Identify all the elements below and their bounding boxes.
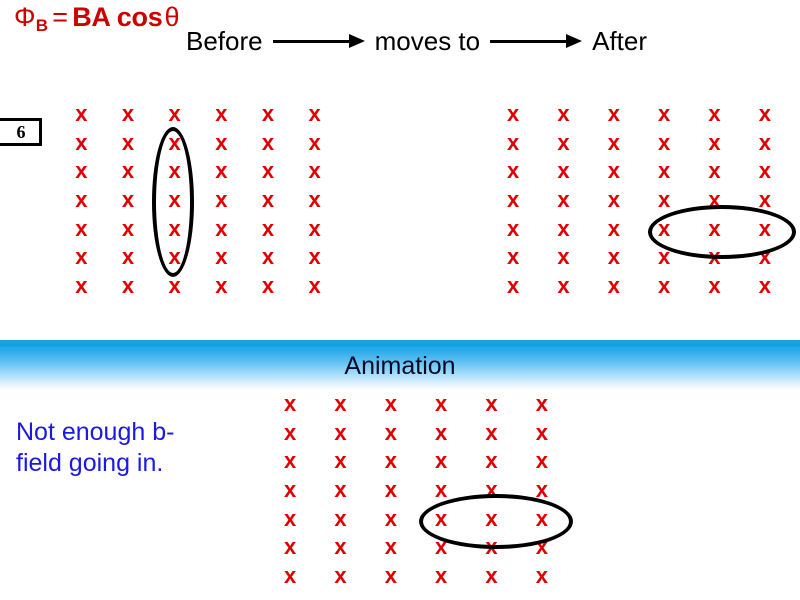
field-x-mark: x — [265, 533, 315, 562]
field-x-mark: x — [198, 100, 245, 129]
field-x-mark: x — [105, 100, 152, 129]
field-grid-before: xxxxxxxxxxxxxxxxxxxxxxxxxxxxxxxxxxxxxxxx… — [58, 100, 338, 300]
field-x-mark: x — [58, 157, 105, 186]
phi-symbol: Φ — [14, 2, 36, 32]
field-x-mark: x — [416, 419, 466, 448]
field-x-mark: x — [245, 100, 292, 129]
field-x-mark: x — [517, 561, 567, 590]
field-x-mark: x — [58, 129, 105, 158]
field-x-mark: x — [488, 129, 538, 158]
field-x-mark: x — [740, 100, 790, 129]
field-x-mark: x — [315, 476, 365, 505]
field-x-mark: x — [639, 157, 689, 186]
field-x-mark: x — [538, 271, 588, 300]
field-x-mark: x — [315, 504, 365, 533]
formula-expression: BA cos — [72, 2, 162, 32]
field-x-mark: x — [245, 186, 292, 215]
field-x-mark: x — [315, 390, 365, 419]
field-x-mark: x — [740, 129, 790, 158]
field-x-mark: x — [291, 157, 338, 186]
field-x-mark: x — [740, 271, 790, 300]
right-arrow-icon — [273, 34, 365, 48]
field-x-mark: x — [366, 390, 416, 419]
field-x-mark: x — [466, 561, 516, 590]
field-x-mark: x — [265, 476, 315, 505]
field-x-mark: x — [488, 157, 538, 186]
field-x-mark: x — [639, 129, 689, 158]
field-x-mark: x — [639, 271, 689, 300]
field-x-mark: x — [105, 271, 152, 300]
field-x-mark: x — [245, 214, 292, 243]
field-x-mark: x — [689, 100, 739, 129]
field-x-mark: x — [538, 129, 588, 158]
field-x-mark: x — [265, 419, 315, 448]
transition-header: Before moves to After — [186, 24, 647, 58]
arrow-shaft — [273, 40, 351, 43]
animation-banner-title: Animation — [0, 352, 800, 381]
highlight-ellipse-after — [648, 205, 796, 259]
field-x-mark: x — [466, 390, 516, 419]
field-x-mark: x — [198, 186, 245, 215]
arrow-shaft — [490, 40, 568, 43]
field-x-mark: x — [689, 271, 739, 300]
highlight-ellipse-animation — [419, 494, 573, 549]
field-x-mark: x — [198, 157, 245, 186]
field-x-mark: x — [58, 186, 105, 215]
field-x-mark: x — [245, 271, 292, 300]
field-x-mark: x — [639, 100, 689, 129]
slide-number-label: 6 — [13, 122, 26, 143]
field-x-mark: x — [466, 419, 516, 448]
field-x-mark: x — [105, 129, 152, 158]
phi-subscript: B — [36, 16, 48, 35]
right-arrow-icon-2 — [490, 34, 582, 48]
field-x-mark: x — [740, 157, 790, 186]
field-x-mark: x — [366, 476, 416, 505]
field-x-mark: x — [291, 129, 338, 158]
field-x-mark: x — [291, 271, 338, 300]
field-x-mark: x — [488, 186, 538, 215]
field-x-mark: x — [105, 186, 152, 215]
field-x-mark: x — [538, 214, 588, 243]
field-grid-animation: xxxxxxxxxxxxxxxxxxxxxxxxxxxxxxxxxxxxxxxx… — [265, 390, 567, 590]
field-x-mark: x — [488, 100, 538, 129]
magnetic-flux-formula: ΦB=BA cosθ — [14, 2, 180, 36]
field-x-mark: x — [58, 271, 105, 300]
field-x-mark: x — [58, 214, 105, 243]
caption-text: Not enough b-field going in. — [16, 417, 206, 478]
field-x-mark: x — [589, 100, 639, 129]
field-x-mark: x — [538, 243, 588, 272]
field-x-mark: x — [245, 129, 292, 158]
field-x-mark: x — [198, 129, 245, 158]
field-x-mark: x — [58, 100, 105, 129]
field-x-mark: x — [416, 447, 466, 476]
field-x-mark: x — [416, 390, 466, 419]
theta-symbol: θ — [162, 2, 179, 32]
field-x-mark: x — [366, 419, 416, 448]
arrow-head — [349, 34, 365, 48]
field-x-mark: x — [488, 214, 538, 243]
field-x-mark: x — [291, 214, 338, 243]
field-x-mark: x — [58, 243, 105, 272]
field-x-mark: x — [689, 157, 739, 186]
field-x-mark: x — [151, 100, 198, 129]
field-x-mark: x — [105, 157, 152, 186]
field-x-mark: x — [291, 243, 338, 272]
after-label: After — [592, 24, 647, 58]
slide-number-box: 6 — [0, 118, 42, 146]
field-x-mark: x — [538, 186, 588, 215]
field-x-mark: x — [105, 243, 152, 272]
field-x-mark: x — [488, 243, 538, 272]
field-x-mark: x — [245, 243, 292, 272]
field-x-mark: x — [265, 390, 315, 419]
field-x-mark: x — [589, 243, 639, 272]
before-label: Before — [186, 24, 263, 58]
field-x-mark: x — [366, 561, 416, 590]
field-x-mark: x — [517, 419, 567, 448]
field-x-mark: x — [416, 561, 466, 590]
highlight-ellipse-before — [152, 127, 194, 277]
field-grid-after: xxxxxxxxxxxxxxxxxxxxxxxxxxxxxxxxxxxxxxxx… — [488, 100, 790, 300]
field-x-mark: x — [589, 271, 639, 300]
field-x-mark: x — [366, 533, 416, 562]
field-x-mark: x — [291, 186, 338, 215]
field-x-mark: x — [689, 129, 739, 158]
field-x-mark: x — [315, 447, 365, 476]
field-x-mark: x — [466, 447, 516, 476]
field-x-mark: x — [488, 271, 538, 300]
field-x-mark: x — [589, 214, 639, 243]
field-x-mark: x — [589, 186, 639, 215]
field-x-mark: x — [198, 271, 245, 300]
field-x-mark: x — [198, 243, 245, 272]
field-x-mark: x — [198, 214, 245, 243]
field-x-mark: x — [538, 100, 588, 129]
field-x-mark: x — [315, 533, 365, 562]
slide-canvas: ΦB=BA cosθ Before moves to After 6 xxxxx… — [0, 0, 800, 600]
field-x-mark: x — [366, 447, 416, 476]
arrow-head — [566, 34, 582, 48]
field-x-mark: x — [538, 157, 588, 186]
field-x-mark: x — [265, 561, 315, 590]
field-x-mark: x — [589, 129, 639, 158]
field-x-mark: x — [105, 214, 152, 243]
field-x-mark: x — [517, 390, 567, 419]
field-x-mark: x — [265, 447, 315, 476]
field-x-mark: x — [265, 504, 315, 533]
field-x-mark: x — [315, 419, 365, 448]
field-x-mark: x — [291, 100, 338, 129]
field-x-mark: x — [315, 561, 365, 590]
field-x-mark: x — [589, 157, 639, 186]
field-x-mark: x — [366, 504, 416, 533]
equals-sign: = — [48, 2, 72, 32]
field-x-mark: x — [517, 447, 567, 476]
moves-to-label: moves to — [375, 24, 481, 58]
field-x-mark: x — [245, 157, 292, 186]
